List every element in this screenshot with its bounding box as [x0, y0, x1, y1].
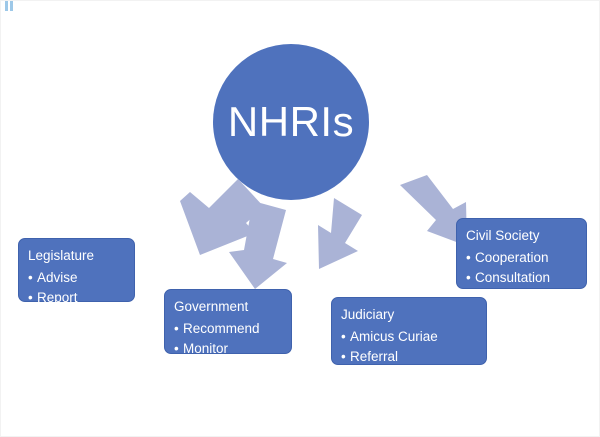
node-bullet: Monitor — [174, 339, 282, 359]
node-box-legislature[interactable]: Legislature Advise Report — [18, 238, 135, 302]
hub-circle: NHRIs — [213, 44, 369, 200]
diagram-canvas: NHRIs Legislature Advise Report Governme… — [0, 0, 600, 437]
node-bullet-list: Advise Report — [28, 268, 125, 309]
node-bullet: Advise — [28, 268, 125, 288]
node-title: Government — [174, 297, 282, 317]
node-bullet-list: Amicus Curiae Referral — [341, 327, 477, 368]
node-bullet: Amicus Curiae — [341, 327, 477, 347]
node-bullet: Consultation — [466, 268, 577, 288]
node-title: Judiciary — [341, 305, 477, 325]
node-bullet: Referral — [341, 347, 477, 367]
node-bullet: Recommend — [174, 319, 282, 339]
node-bullet: Cooperation — [466, 248, 577, 268]
node-title: Civil Society — [466, 226, 577, 246]
arrow-to-judiciary-icon — [318, 198, 362, 269]
node-title: Legislature — [28, 246, 125, 266]
node-box-judiciary[interactable]: Judiciary Amicus Curiae Referral — [331, 297, 487, 365]
node-box-government[interactable]: Government Recommend Monitor — [164, 289, 292, 354]
node-bullet-list: Recommend Monitor — [174, 319, 282, 360]
node-box-civil-society[interactable]: Civil Society Cooperation Consultation — [456, 218, 587, 289]
node-bullet-list: Cooperation Consultation — [466, 248, 577, 289]
hub-label: NHRIs — [228, 101, 354, 143]
node-bullet: Report — [28, 288, 125, 308]
